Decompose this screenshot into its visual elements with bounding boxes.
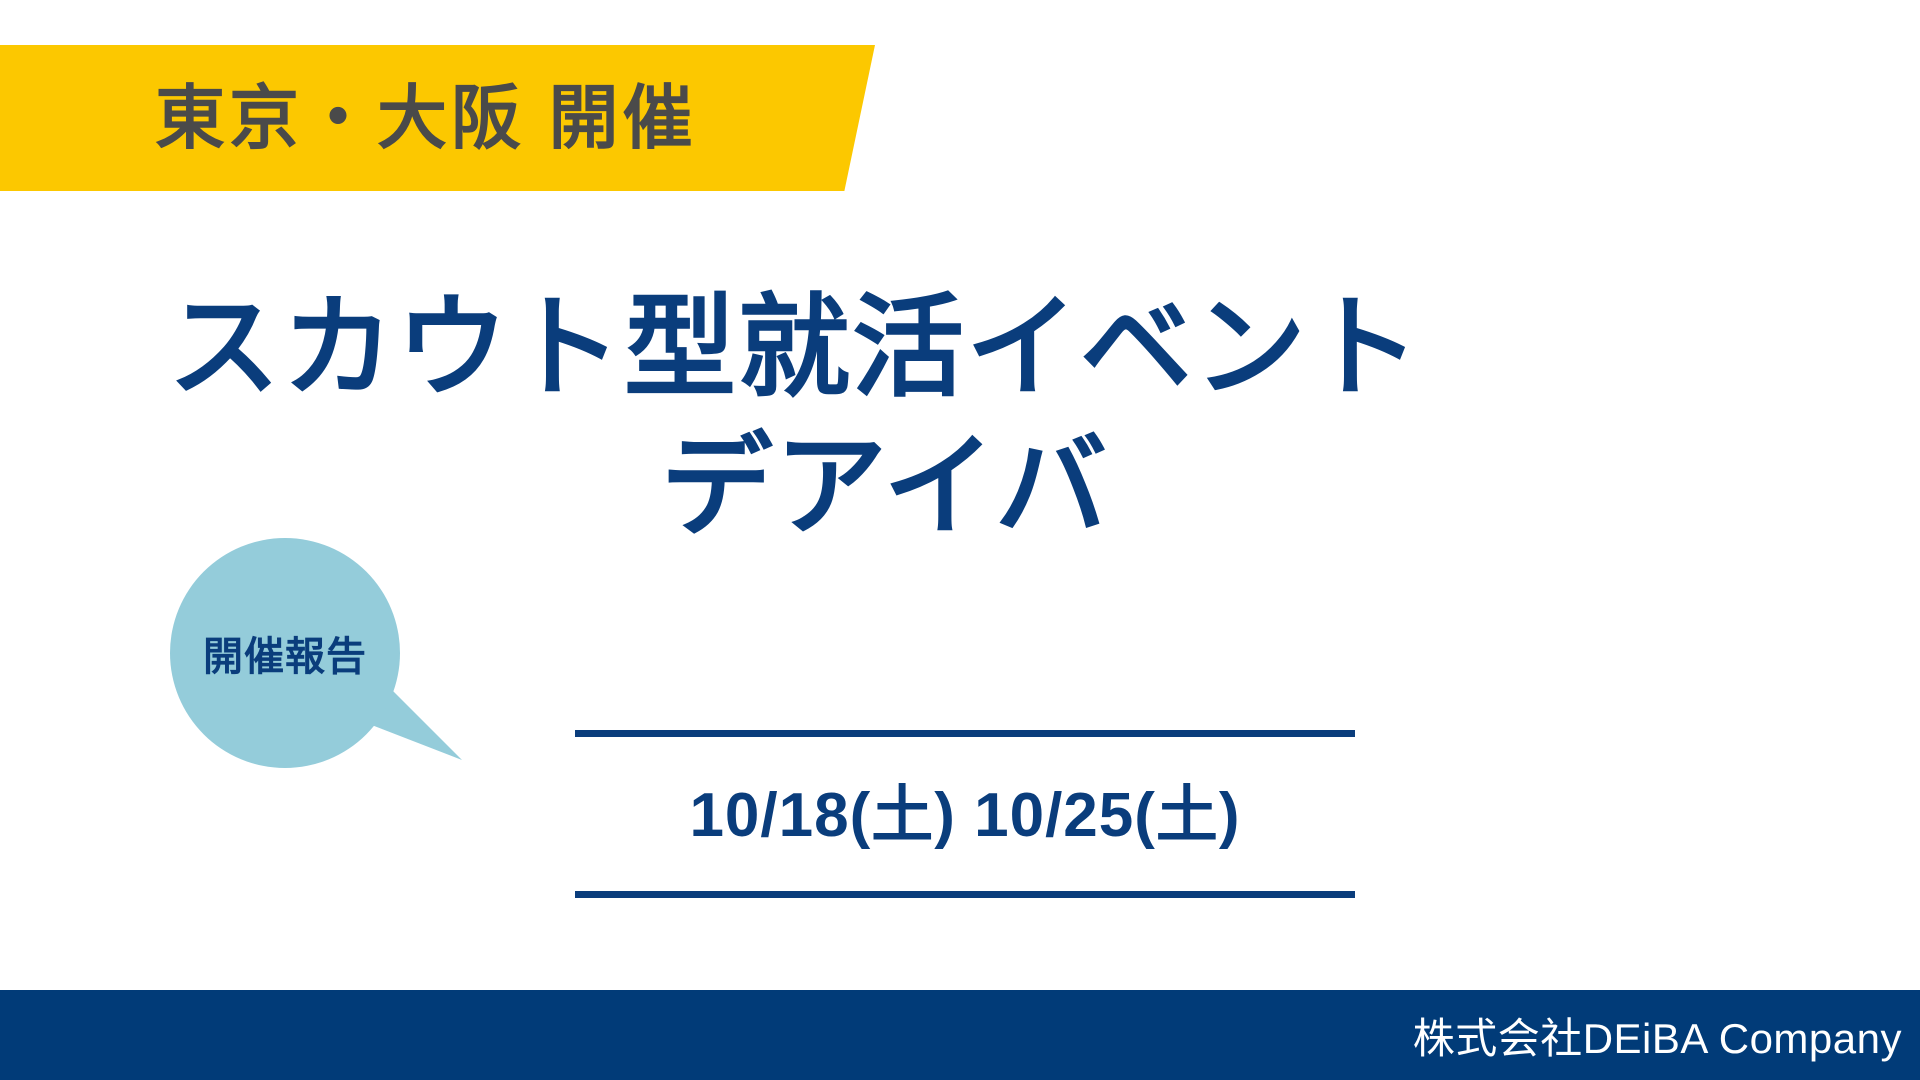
date-rule-top [575,730,1355,737]
event-dates: 10/18(土) 10/25(土) [575,737,1355,891]
speech-bubble-circle: 開催報告 [170,538,400,768]
report-badge-label: 開催報告 [203,624,367,682]
event-headline: スカウト型就活イベント デアイバ [0,285,1920,550]
headline-line-1: スカウト型就活イベント [0,285,1920,410]
footer-bar: 株式会社DEiBA Company [0,990,1920,1080]
slide-canvas: 東京・大阪 開催 スカウト型就活イベント デアイバ 開催報告 10/18(土) … [0,0,1920,1080]
headline-line-2: デアイバ [0,410,1920,549]
company-name: 株式会社DEiBA Company [1413,1005,1902,1066]
event-date-block: 10/18(土) 10/25(土) [575,730,1355,898]
date-rule-bottom [575,891,1355,898]
location-ribbon: 東京・大阪 開催 [0,45,875,191]
location-ribbon-label: 東京・大阪 開催 [155,83,696,153]
report-badge: 開催報告 [170,538,460,788]
